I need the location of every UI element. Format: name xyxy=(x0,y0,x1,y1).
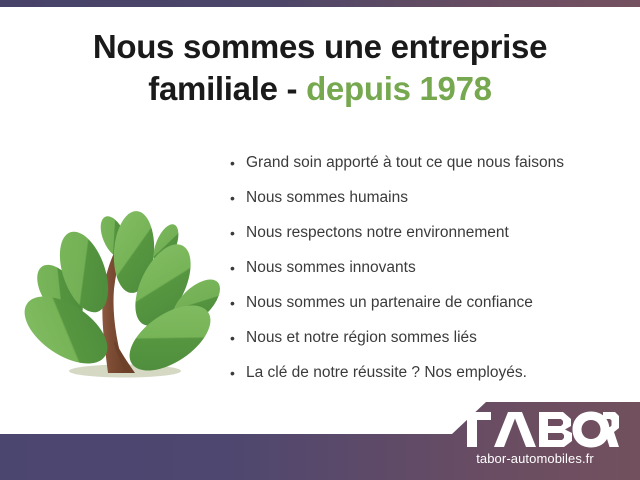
value-proposition-list: Grand soin apporté à tout ce que nous fa… xyxy=(229,152,629,397)
tree-illustration xyxy=(8,155,226,387)
list-item: Nous sommes humains xyxy=(229,187,629,222)
list-item: Nous sommes un partenaire de confiance xyxy=(229,292,629,327)
list-item: La clé de notre réussite ? Nos employés. xyxy=(229,362,629,397)
headline-accent-text: depuis 1978 xyxy=(306,70,492,107)
top-accent-bar xyxy=(0,0,640,7)
tabor-wordmark xyxy=(451,411,619,448)
tree-icon xyxy=(8,155,226,387)
list-item: Nous sommes innovants xyxy=(229,257,629,292)
headline-line-2: familiale - depuis 1978 xyxy=(0,68,640,110)
brand-logo[interactable]: tabor-automobiles.fr xyxy=(447,411,623,466)
list-item: Nous respectons notre environnement xyxy=(229,222,629,257)
list-item: Nous et notre région sommes liés xyxy=(229,327,629,362)
page-title: Nous sommes une entreprise familiale - d… xyxy=(0,26,640,110)
list-item: Grand soin apporté à tout ce que nous fa… xyxy=(229,152,629,187)
brand-website: tabor-automobiles.fr xyxy=(447,451,623,466)
headline-line-1: Nous sommes une entreprise xyxy=(0,26,640,68)
footer-bar: tabor-automobiles.fr xyxy=(0,398,640,480)
headline-line-2-plain: familiale - xyxy=(148,70,306,107)
